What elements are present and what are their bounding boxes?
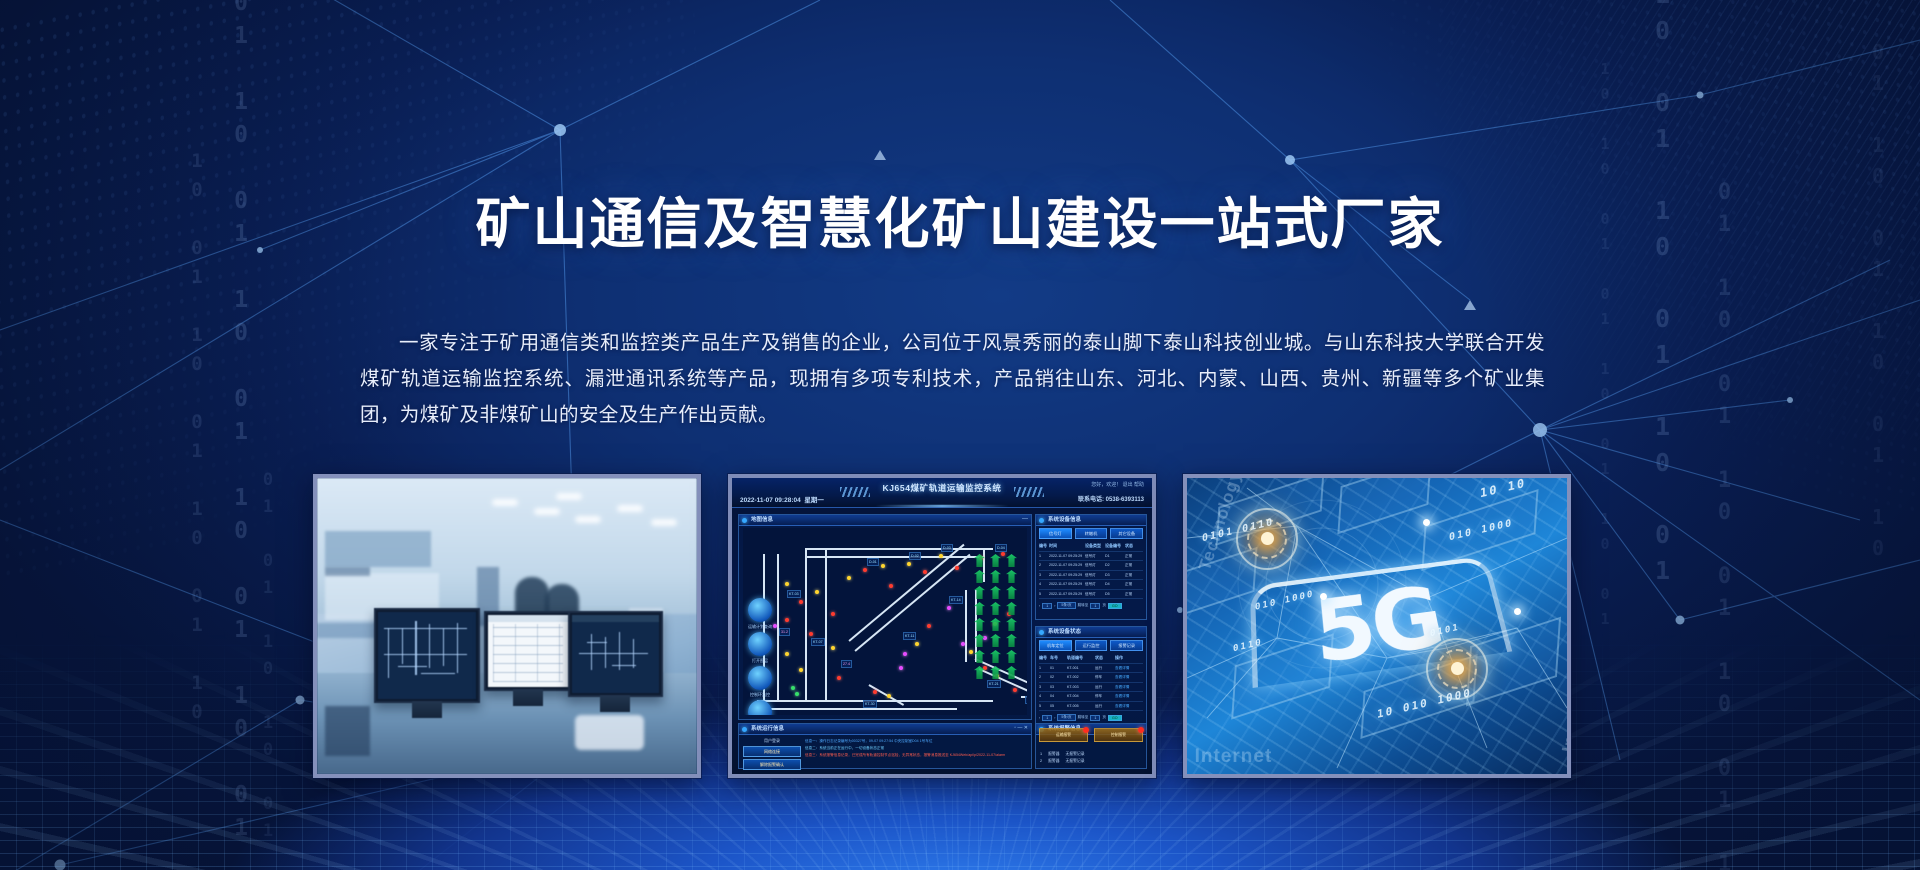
table-header: 编号 车号 轨道编号 状态 操作: [1039, 654, 1143, 664]
log-line: 信息二：系统当前正在运行中，一切设备状态正常: [805, 745, 1021, 752]
scada-tool-layer[interactable]: 打开图层: [748, 632, 772, 664]
scada-datetime: 2022-11-07 09:28:04 星期一: [740, 494, 824, 504]
scada-log-panel: 系统运行信息 ▫ — ✕ 用户登录 网络连接 解除报警确认 信息一：操作日志记录…: [738, 723, 1032, 769]
panel-title: 系统运行信息: [739, 724, 1031, 735]
log-window-controls[interactable]: ▫ — ✕: [1014, 725, 1028, 731]
table-row[interactable]: 1 01 KT-001 运行 查看详情: [1039, 664, 1143, 674]
log-button-network[interactable]: 网络连接: [743, 746, 801, 757]
table-row[interactable]: 1 2022-11-07 09:25:29 信号灯 D1 正常: [1039, 552, 1143, 562]
page-title: 矿山通信及智慧化矿山建设一站式厂家: [0, 192, 1920, 256]
pagination[interactable]: ‹ 1 › 5条/页 跳转至 1 页 GO: [1039, 714, 1143, 721]
alarm-button-transport[interactable]: 运输报警: [1039, 728, 1088, 742]
pagination[interactable]: ‹ 1 › 5条/页 跳转至 1 页 GO: [1039, 602, 1143, 609]
alarm-row: 2 报警器 无报警记录: [1040, 758, 1142, 765]
scada-tool-settings[interactable]: 系统设置: [748, 700, 772, 715]
page-number[interactable]: 1: [1042, 715, 1052, 721]
monitor-icon: [748, 666, 772, 690]
log-subtitle: 用户登录: [743, 738, 801, 744]
table-row[interactable]: 3 2022-11-07 09:25:29 信号灯 D3 正常: [1039, 571, 1143, 581]
table-row[interactable]: 4 2022-11-07 09:25:29 信号灯 D4 正常: [1039, 580, 1143, 590]
table-header: 编号 时间 设备类型 设备编号 状态: [1039, 542, 1143, 552]
page-goto-input[interactable]: 1: [1090, 715, 1100, 721]
page-goto-input[interactable]: 1: [1090, 603, 1100, 609]
page-next-icon[interactable]: ›: [1054, 716, 1055, 720]
image-gallery: KJ654煤矿轨道运输监控系统 2022-11-07 09:28:04 星期一 …: [313, 474, 1571, 778]
page-prev-icon[interactable]: ‹: [1039, 716, 1040, 720]
gallery-item-control-room[interactable]: [313, 474, 701, 778]
scada-track-map[interactable]: KT-03 31.2 KT-07 27.4 D-01 D-02 D-03 D-0…: [743, 528, 1027, 715]
scada-device-info-panel: 系统设备信息 信号灯 转辙机 其它设备 编号 时间: [1035, 514, 1147, 620]
wordmark-internet: Internet: [1195, 746, 1273, 768]
hud-ring-icon: [1236, 508, 1298, 570]
page-go-button[interactable]: GO: [1108, 603, 1122, 609]
page-prev-icon[interactable]: ‹: [1039, 604, 1040, 608]
log-button-ack-alarm[interactable]: 解除报警确认: [743, 759, 801, 770]
page-size-select[interactable]: 5条/页: [1057, 602, 1075, 609]
fiveg-technology-graphic: 5G 0101 0110 010 1000 010 1000 0101 0110…: [1187, 478, 1567, 774]
tab-other-devices[interactable]: 其它设备: [1110, 528, 1143, 539]
log-line: 信息三：系统报警信息记录，已完成所有轨道控制节点巡检，无异常状态，报警消息推送至…: [805, 752, 1021, 759]
settings-icon: [748, 700, 772, 715]
hero-banner: 01 10 01 10 01 10 01 10 01 10 01 10 01 1…: [0, 0, 1920, 870]
table-row[interactable]: 2 2022-11-07 09:25:29 信号灯 D2 正常: [1039, 561, 1143, 571]
tab-signal-light[interactable]: 信号灯: [1039, 528, 1072, 539]
scada-alarm-panel: 系统报警信息 运输报警 控制报警 1 报警器 无报警记录: [1035, 723, 1147, 769]
alarm-row: 1 报警器 无报警记录: [1040, 751, 1142, 758]
tab-run-monitor[interactable]: 运行监控: [1075, 640, 1108, 651]
tab-switch-machine[interactable]: 转辙机: [1075, 528, 1108, 539]
scada-chevron-left-icon: [840, 487, 870, 497]
scada-dashboard-screenshot: KJ654煤矿轨道运输监控系统 2022-11-07 09:28:04 星期一 …: [732, 478, 1152, 774]
alarm-button-control[interactable]: 控制报警: [1094, 728, 1143, 742]
table-row[interactable]: 3 03 KT-003 运行 查看详情: [1039, 683, 1143, 693]
scada-tool-plan[interactable]: 运输计划查询: [748, 598, 772, 630]
scada-device-state-panel: 系统设备状态 机车定位 运行监控 报警记录 编号 车号: [1035, 626, 1147, 730]
map-minimize-icon[interactable]: —: [1022, 516, 1028, 522]
scada-map-panel: 地图信息 —: [738, 514, 1032, 720]
scada-chevron-right-icon: [1014, 487, 1044, 497]
scada-tool-monitor[interactable]: 控制环监控: [748, 666, 772, 698]
panel-title: 系统设备信息: [1036, 515, 1146, 526]
scada-user-menu[interactable]: 您好，欢迎！ 退出 帮助: [1091, 481, 1144, 488]
layer-icon: [748, 632, 772, 656]
table-row[interactable]: 2 02 KT-002 停车 查看详情: [1039, 673, 1143, 683]
table-row[interactable]: 5 2022-11-07 09:25:29 信号灯 D5 正常: [1039, 590, 1143, 600]
tab-locomotive-position[interactable]: 机车定位: [1039, 640, 1072, 651]
scada-title: KJ654煤矿轨道运输监控系统: [732, 482, 1152, 494]
page-go-button[interactable]: GO: [1108, 715, 1122, 721]
table-row[interactable]: 4 04 KT-004 停车 查看详情: [1039, 692, 1143, 702]
scada-phone: 联系电话: 0538-6393113: [1078, 494, 1144, 503]
panel-title: 系统设备状态: [1036, 627, 1146, 638]
tab-alarm-records[interactable]: 报警记录: [1110, 640, 1143, 651]
company-description: 一家专注于矿用通信类和监控类产品生产及销售的企业，公司位于风景秀丽的泰山脚下泰山…: [360, 325, 1545, 433]
gallery-item-5g[interactable]: 5G 0101 0110 010 1000 010 1000 0101 0110…: [1183, 474, 1571, 778]
plan-icon: [748, 598, 772, 622]
control-room-photo: [317, 478, 697, 774]
log-line: 信息一：操作日志记录编号为00327号，09-07 09:27:54 中央控制室…: [805, 738, 1021, 745]
table-row[interactable]: 5 05 KT-005 运行 查看详情: [1039, 702, 1143, 712]
page-next-icon[interactable]: ›: [1054, 604, 1055, 608]
gallery-item-scada[interactable]: KJ654煤矿轨道运输监控系统 2022-11-07 09:28:04 星期一 …: [728, 474, 1156, 778]
page-number[interactable]: 1: [1042, 603, 1052, 609]
page-size-select[interactable]: 5条/页: [1057, 714, 1075, 721]
scada-map-panel-title: 地图信息: [739, 515, 1031, 526]
